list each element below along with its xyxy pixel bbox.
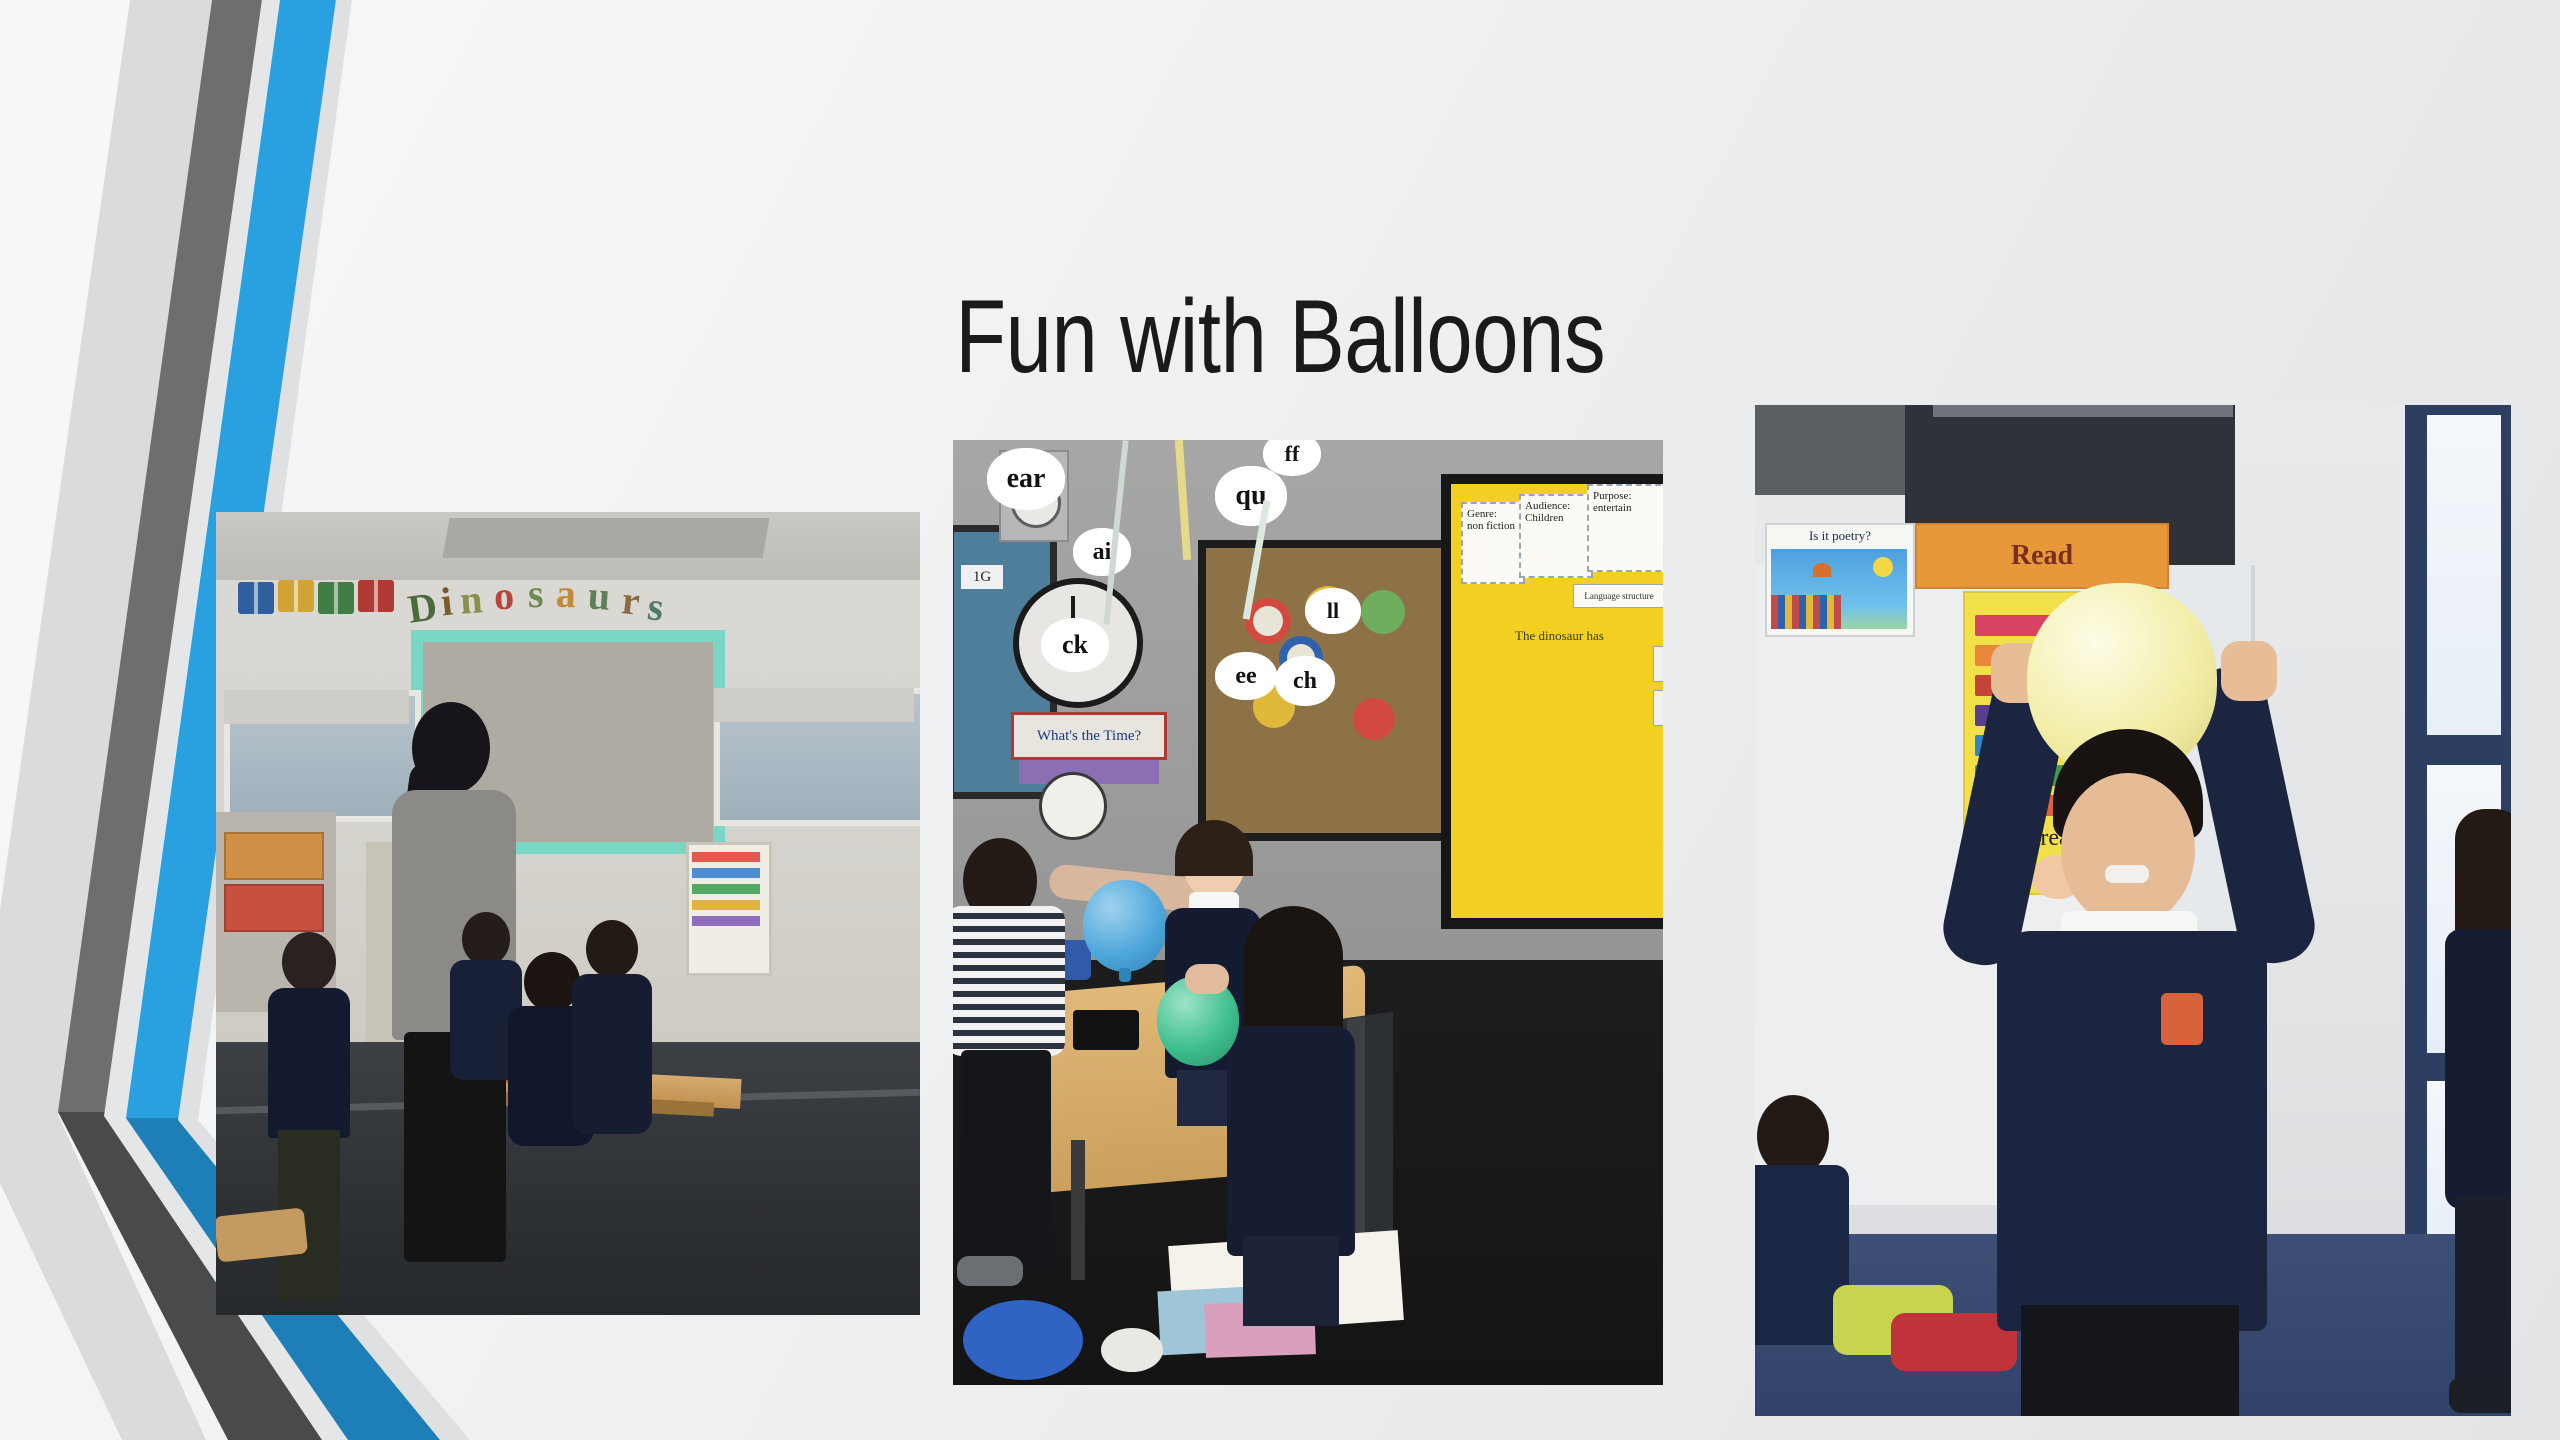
phonics-room-balloon-photo[interactable]: 1G What's the Time? Genre — [953, 440, 1663, 1385]
sound-card-ll: ll — [1305, 588, 1361, 634]
genre-value: non fiction — [1467, 520, 1519, 532]
photo-mid-scene: 1G What's the Time? Genre — [953, 440, 1663, 1385]
sound-card-ear: ear — [987, 448, 1065, 510]
wall-chart-strip — [692, 900, 760, 910]
standing-pupil-figure — [2445, 809, 2511, 1416]
butterfly-illustration — [1813, 563, 1831, 577]
standing-pupil-trousers — [2455, 1197, 2511, 1397]
storage-box — [224, 884, 324, 932]
wall-chart-strip — [692, 916, 760, 926]
tablet-device — [1073, 1010, 1139, 1050]
flower-cutout — [1253, 606, 1283, 636]
standing-pupil-shoe — [2449, 1377, 2511, 1413]
sound-card-ee: ee — [1215, 652, 1277, 700]
window-left-blind — [224, 690, 409, 724]
pupil-head — [282, 932, 336, 992]
door-sign-1g: 1G — [961, 565, 1003, 589]
storage-box — [224, 832, 324, 880]
adult-striped-top — [953, 906, 1065, 1056]
dinosaurs-display: D i n o s a u r s — [408, 574, 708, 626]
slide-title-placeholder: Fun with Balloons — [640, 255, 1920, 420]
boy-head — [2061, 773, 2195, 927]
boy-trousers — [2021, 1305, 2239, 1416]
paper-bag-on-floor — [216, 1207, 308, 1262]
flower-cutout — [1353, 698, 1395, 740]
flower-cutout — [1361, 590, 1405, 634]
sun-illustration — [1873, 557, 1893, 577]
wall-chart-strip — [692, 852, 760, 862]
audience-card: Audience: Children — [1519, 494, 1593, 578]
sound-card-ch: ch — [1275, 656, 1335, 706]
pupil-skirt — [1243, 1236, 1339, 1326]
boy-mouth — [2105, 865, 2149, 883]
adult-figure — [953, 838, 1065, 1298]
window-pane — [2427, 415, 2501, 745]
boy-holding-balloon-photo[interactable]: Is it poetry? Read Smart r — [1755, 405, 2511, 1416]
boy-jumper — [1997, 931, 2267, 1331]
slide: Fun with Balloons D i n o s a u r s — [0, 0, 2560, 1440]
white-bowl — [1101, 1328, 1163, 1372]
pupil-jumper — [1227, 1026, 1355, 1256]
sound-card-ck: ck — [1041, 618, 1109, 672]
classroom-group-photo[interactable]: D i n o s a u r s — [216, 512, 920, 1315]
window-frame-top — [1933, 405, 2233, 417]
poster-side-card — [1653, 690, 1663, 726]
pupil-jumper — [268, 988, 350, 1138]
gift-cutout — [358, 580, 394, 612]
page-title: Fun with Balloons — [955, 283, 1605, 392]
sound-card-qu: qu — [1215, 466, 1287, 526]
language-structure-card: Language structure — [1573, 584, 1663, 608]
purpose-card: Purpose: entertain — [1587, 484, 1663, 572]
purpose-value: entertain — [1593, 502, 1663, 514]
photo-right-scene: Is it poetry? Read Smart r — [1755, 405, 2511, 1416]
seated-pupil-figure — [1755, 1095, 1857, 1416]
pupil-head — [462, 912, 510, 966]
pupil-jumper — [572, 974, 652, 1134]
hand-on-green-balloon — [1185, 964, 1229, 994]
window-mullion — [2405, 735, 2511, 765]
clock-face-small — [1039, 772, 1107, 840]
whats-the-time-poster: What's the Time? — [1011, 712, 1167, 760]
pupil-head — [586, 920, 638, 978]
standing-pupil-jumper — [2445, 929, 2511, 1209]
audience-value: Children — [1525, 512, 1587, 524]
pupil-figure — [572, 920, 656, 1220]
boy-right-hand — [2221, 641, 2277, 701]
is-it-poetry-poster: Is it poetry? — [1765, 523, 1915, 637]
sentence-starter-text: The dinosaur has — [1515, 628, 1663, 658]
boy-figure — [1945, 525, 2365, 1415]
audience-label: Audience: — [1525, 500, 1587, 512]
balloon-knot — [1119, 968, 1131, 982]
adult-shoe — [957, 1256, 1023, 1286]
wall-chart-strip — [692, 884, 760, 894]
ceiling-light-panel — [442, 518, 769, 558]
flowers-illustration — [1771, 595, 1841, 629]
blue-tub — [963, 1300, 1083, 1380]
pupil-hair — [1175, 820, 1253, 876]
gift-cutout — [238, 582, 274, 614]
is-it-poetry-title: Is it poetry? — [1767, 525, 1913, 544]
poster-side-card — [1653, 646, 1663, 682]
school-crest-badge — [2161, 993, 2203, 1045]
purpose-label: Purpose: — [1593, 490, 1663, 502]
window-right-blind — [714, 688, 914, 722]
genre-card: Genre: non fiction — [1461, 502, 1525, 584]
gift-cutout — [278, 580, 314, 612]
photo-left-scene: D i n o s a u r s — [216, 512, 920, 1315]
table-leg — [1071, 1140, 1085, 1280]
sound-card-ai: ai — [1073, 528, 1131, 576]
genre-label: Genre: — [1467, 508, 1519, 520]
pupil-figure-long-hair — [1221, 906, 1357, 1326]
blue-balloon — [1083, 880, 1167, 972]
poetry-illustration — [1771, 549, 1907, 629]
gift-cutout — [318, 582, 354, 614]
wall-chart-strip — [692, 868, 760, 878]
adult-trousers — [961, 1050, 1051, 1270]
